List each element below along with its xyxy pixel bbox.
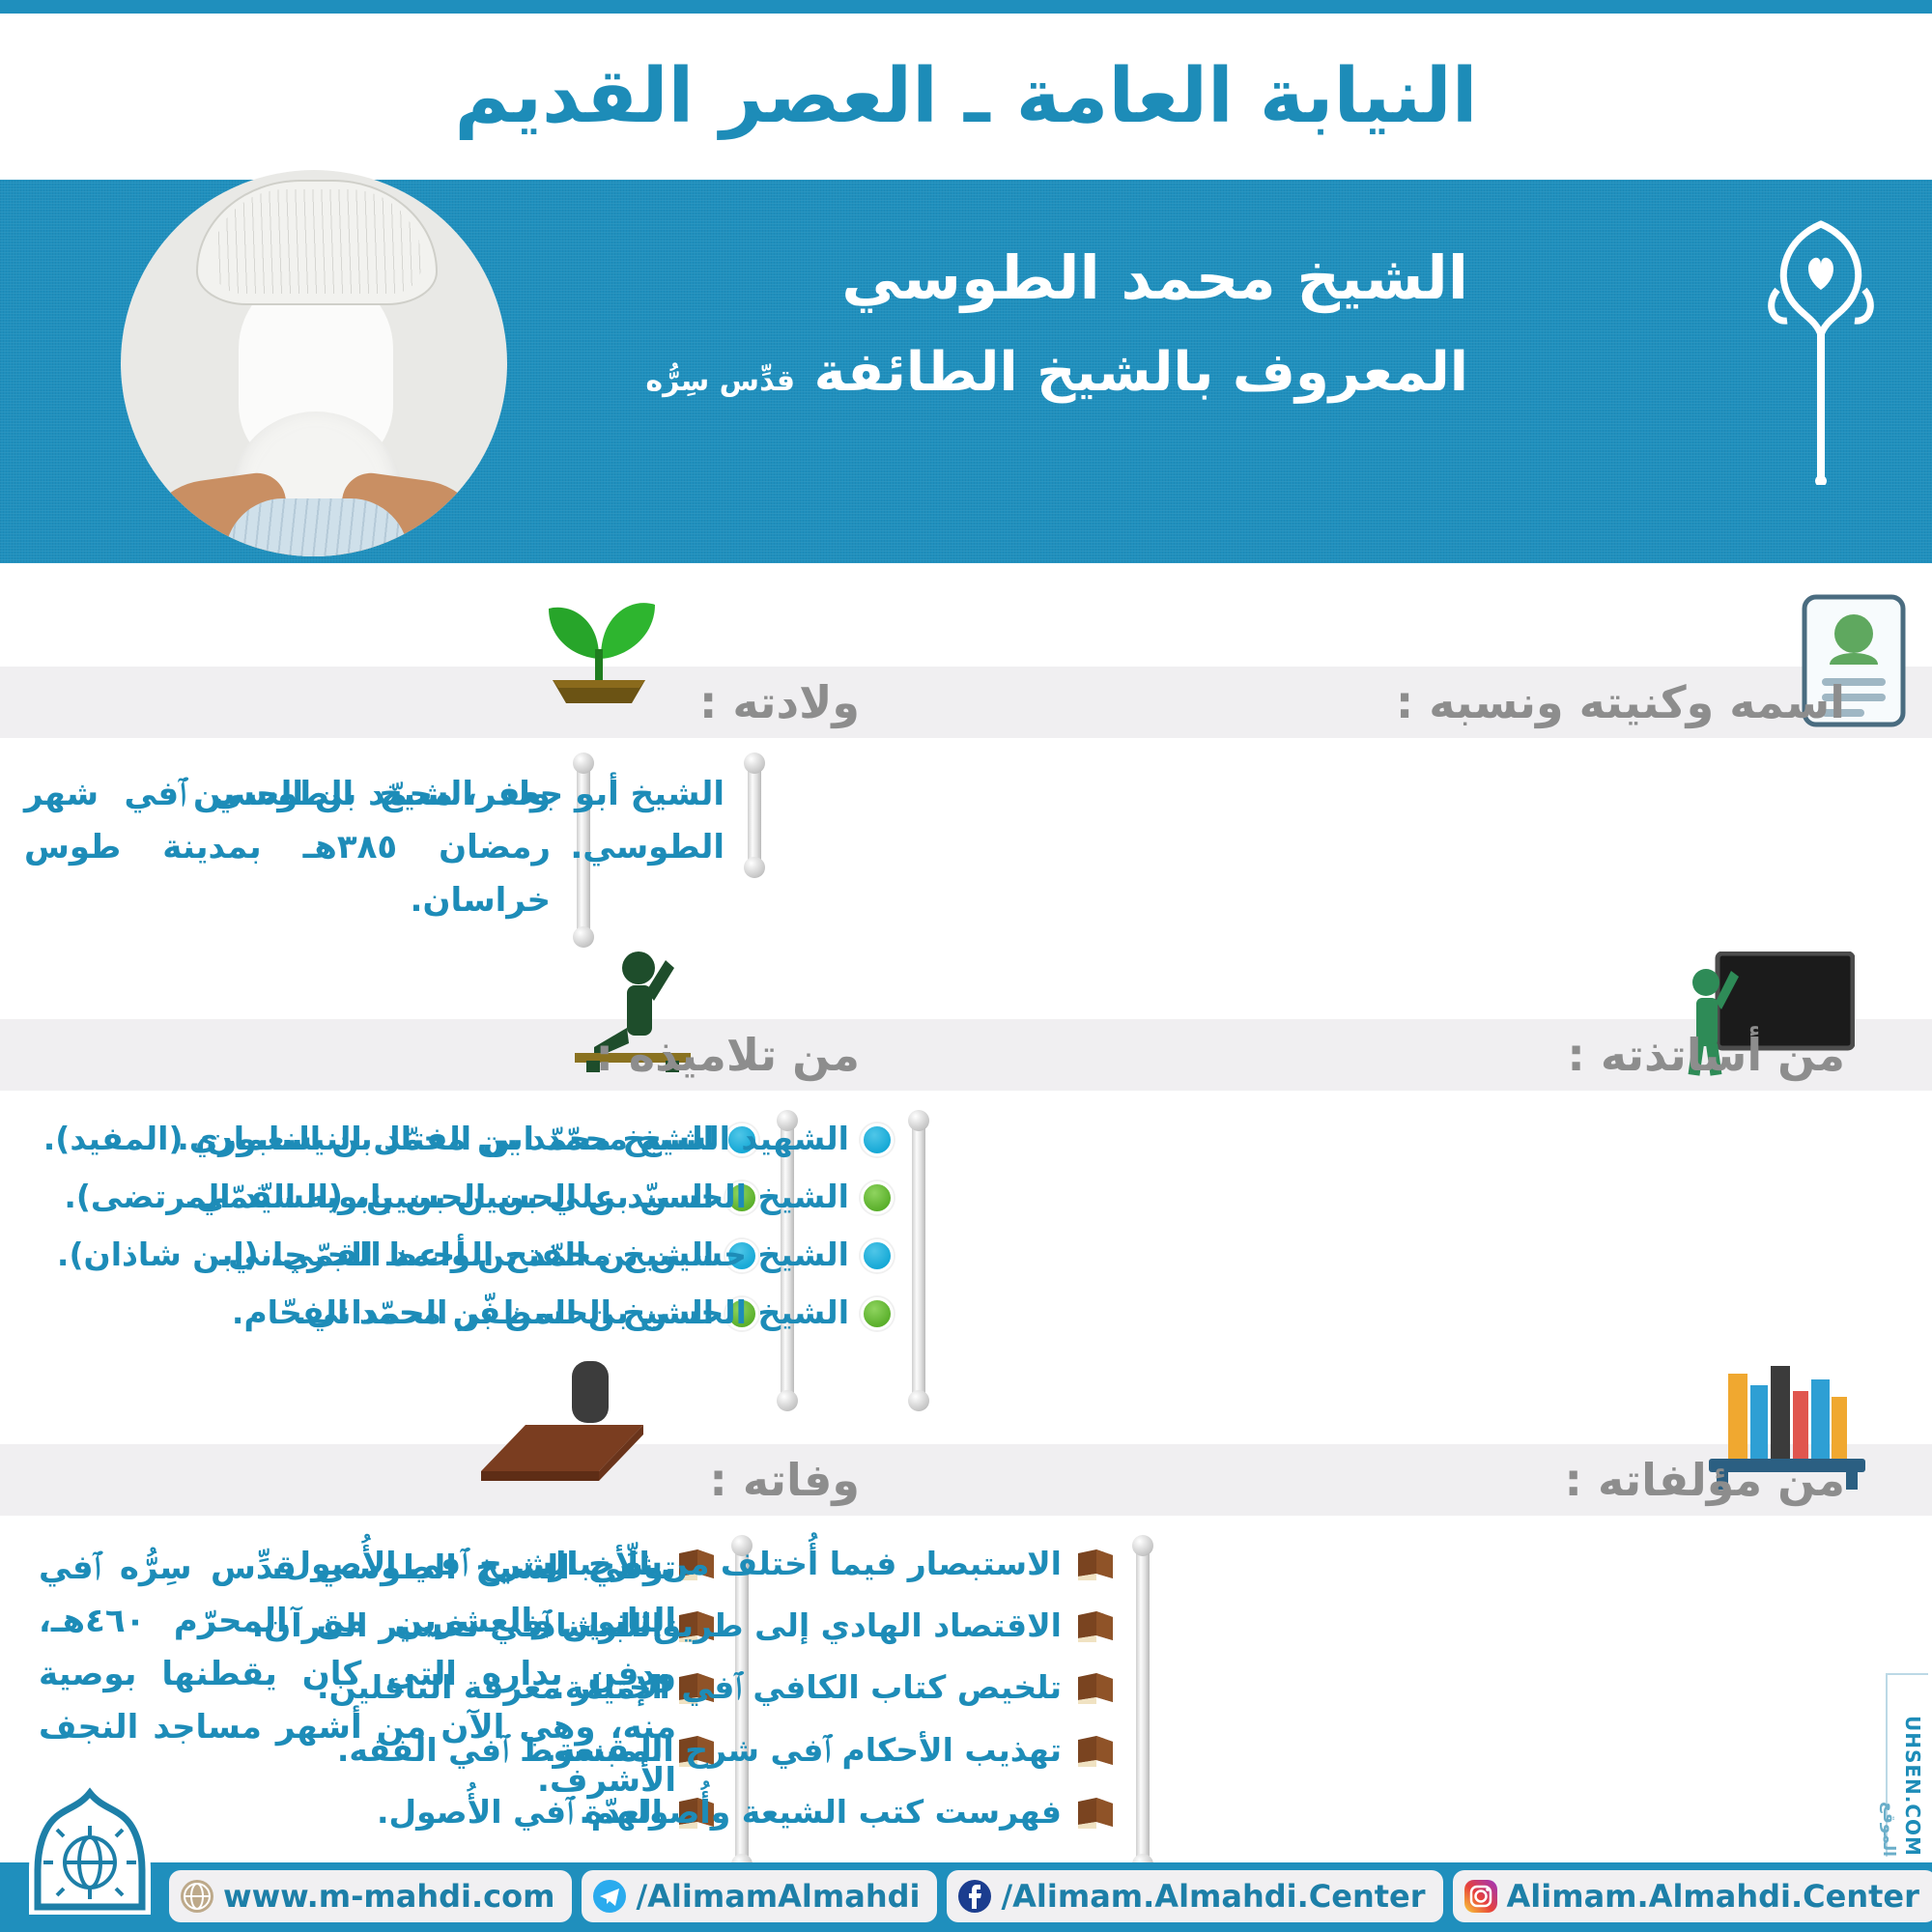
chip-telegram[interactable]: /AlimamAlmahdi xyxy=(582,1870,937,1922)
portrait-turban xyxy=(196,180,438,305)
page-title: النيابة العامة ـ العصر القديم xyxy=(455,53,1478,140)
chip-instagram-label: Alimam.Almahdi.Center xyxy=(1507,1878,1919,1915)
book-icon xyxy=(1075,1548,1116,1582)
student-name: الشيخ الحسن بن المظفّر الحمداني. xyxy=(295,1290,849,1336)
student-name: الشيخ حسين بن الفتح الواعظ الجرجاني. xyxy=(216,1232,849,1278)
top-accent-strip xyxy=(0,0,1932,14)
bullet-dot-icon xyxy=(861,1239,894,1272)
infographic-page: النيابة العامة ـ العصر القديم الشيخ محمد… xyxy=(0,0,1932,1932)
telegram-icon xyxy=(591,1878,628,1915)
list-students: الشهيد الشيخ محمّد ابن الفتال النيسابوري… xyxy=(82,1116,894,1347)
chip-website-label: www.m-mahdi.com xyxy=(223,1878,554,1915)
instagram-icon xyxy=(1463,1878,1499,1915)
footer-bar: www.m-mahdi.com /AlimamAlmahdi /Alimam.A… xyxy=(0,1862,1932,1932)
book-icon xyxy=(1075,1796,1116,1831)
side-watermark: UHSEN.COM الموقع xyxy=(1886,1673,1928,1857)
heading-name-lineage: اسمه وكنيته ونسبه : xyxy=(1396,667,1845,738)
list-item: الاستبصار فيما أُختلف من الأخبار. xyxy=(758,1542,1116,1586)
heading-teachers: من أساتذته : xyxy=(1567,1019,1845,1091)
list-item: تلخيص كتاب الكافي ﭐفي الإمامة. xyxy=(758,1665,1116,1710)
heading-students: من تلاميذه : xyxy=(596,1019,860,1091)
chip-telegram-label: /AlimamAlmahdi xyxy=(636,1878,920,1915)
list-item: فهرست كتب الشيعة وأُصولهم. xyxy=(758,1790,1116,1834)
chip-website[interactable]: www.m-mahdi.com xyxy=(169,1870,572,1922)
student-name: الشهيد الشيخ محمّد ابن الفتال النيسابوري… xyxy=(177,1116,849,1162)
grave-icon xyxy=(464,1357,657,1492)
list-item: الشهيد الشيخ محمّد ابن الفتال النيسابوري… xyxy=(82,1116,894,1162)
chip-facebook-label: /Alimam.Almahdi.Center xyxy=(1001,1878,1425,1915)
stem-works-b xyxy=(1136,1546,1150,1864)
scholar-name: الشيخ محمد الطوسي xyxy=(502,238,1468,319)
social-chip-group: www.m-mahdi.com /AlimamAlmahdi /Alimam.A… xyxy=(169,1870,1932,1922)
list-item: الشيخ حسين بن الفتح الواعظ الجرجاني. xyxy=(82,1232,894,1278)
portrait-circle xyxy=(121,170,507,556)
scholar-honorific: قدِّس سِرُّه xyxy=(645,364,795,398)
globe-icon xyxy=(179,1878,215,1915)
heading-works: من مؤلفاته : xyxy=(1565,1444,1845,1516)
scholar-title: المعروف بالشيخ الطائفة قدِّس سِرُّه xyxy=(502,336,1468,410)
islamic-ornament-icon xyxy=(1748,214,1893,485)
text-birth: ولد الشيخ الطوسي ﭐفي شهر رمضان ٣٨٥هـ بمد… xyxy=(24,768,551,927)
bullet-dot-icon xyxy=(861,1297,894,1330)
stem-students xyxy=(912,1121,925,1401)
list-item: الشيخ الحسن بن المظفّر الحمداني. xyxy=(82,1290,894,1336)
mahdi-center-logo-icon xyxy=(17,1777,162,1922)
heading-death: وفاته : xyxy=(709,1444,860,1516)
student-name: الشيخ الحسن بن الحسين بن بابويه القمّي. xyxy=(185,1174,849,1220)
book-icon xyxy=(1075,1734,1116,1769)
bullet-dot-icon xyxy=(861,1123,894,1156)
hero-banner: الشيخ محمد الطوسي المعروف بالشيخ الطائفة… xyxy=(0,180,1932,563)
portrait-robe xyxy=(225,498,409,556)
bullet-dot-icon xyxy=(861,1181,894,1214)
book-icon xyxy=(1075,1609,1116,1644)
facebook-icon xyxy=(956,1878,993,1915)
hero-text-block: الشيخ محمد الطوسي المعروف بالشيخ الطائفة… xyxy=(502,238,1468,409)
portrait xyxy=(121,170,507,595)
chip-instagram[interactable]: Alimam.Almahdi.Center xyxy=(1453,1870,1932,1922)
list-item: الاقتصاد الهادي إلى طريق الرشاد. xyxy=(758,1604,1116,1648)
chip-facebook[interactable]: /Alimam.Almahdi.Center xyxy=(947,1870,1442,1922)
sprout-icon xyxy=(531,580,667,705)
heading-birth: ولادته : xyxy=(699,667,860,738)
side-watermark-latin: UHSEN.COM xyxy=(1901,1716,1924,1857)
text-death: توفِّي الشيخ الطوسي قدِّس سِرُّه ﭐفي الث… xyxy=(39,1542,676,1807)
list-item: تهذيب الأحكام ﭐفي شرح المقنعة. xyxy=(758,1728,1116,1773)
scholar-title-text: المعروف بالشيخ الطائفة xyxy=(814,341,1468,404)
book-icon xyxy=(1075,1671,1116,1706)
list-item: الشيخ الحسن بن الحسين بن بابويه القمّي. xyxy=(82,1174,894,1220)
side-watermark-arabic: الموقع xyxy=(1879,1802,1898,1857)
stem-name xyxy=(748,763,761,867)
title-band: النيابة العامة ـ العصر القديم xyxy=(0,14,1932,180)
list-works-column-b: الاستبصار فيما أُختلف من الأخبار. الاقتص… xyxy=(758,1542,1116,1852)
